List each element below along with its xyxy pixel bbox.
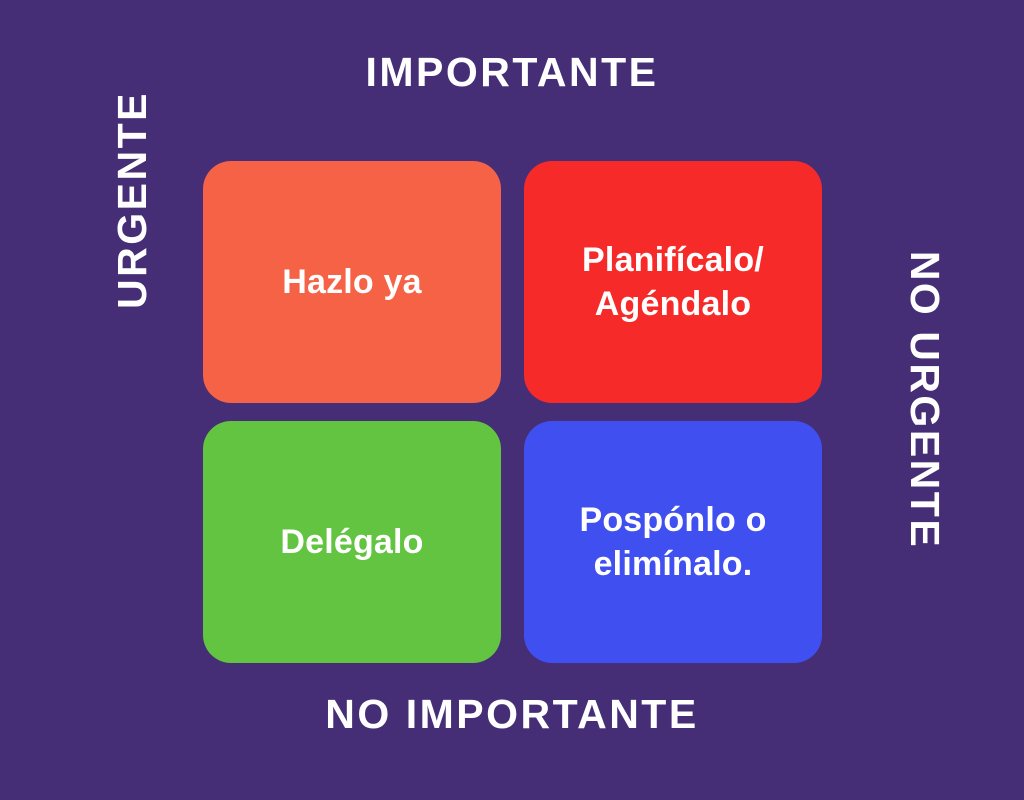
quadrant-posponlo-eliminalo[interactable]: Pospónlo o elimínalo. [524, 421, 822, 663]
quadrant-label-posponlo-eliminalo: Pospónlo o elimínalo. [579, 498, 766, 586]
quadrant-hazlo-ya[interactable]: Hazlo ya [203, 161, 501, 403]
quadrant-grid: Hazlo ya Planifícalo/ Agéndalo Delégalo … [203, 161, 822, 663]
axis-label-no-importante: NO IMPORTANTE [0, 694, 1024, 735]
eisenhower-matrix-canvas: IMPORTANTE URGENTE NO URGENTE Hazlo ya P… [0, 0, 1024, 800]
axis-label-urgente: URGENTE [112, 70, 174, 330]
quadrant-label-hazlo-ya: Hazlo ya [282, 260, 422, 304]
axis-label-no-urgente: NO URGENTE [883, 215, 945, 585]
quadrant-delegalo[interactable]: Delégalo [203, 421, 501, 663]
quadrant-label-delegalo: Delégalo [280, 520, 423, 564]
quadrant-label-planificalo-agendalo: Planifícalo/ Agéndalo [582, 238, 764, 326]
quadrant-planificalo-agendalo[interactable]: Planifícalo/ Agéndalo [524, 161, 822, 403]
